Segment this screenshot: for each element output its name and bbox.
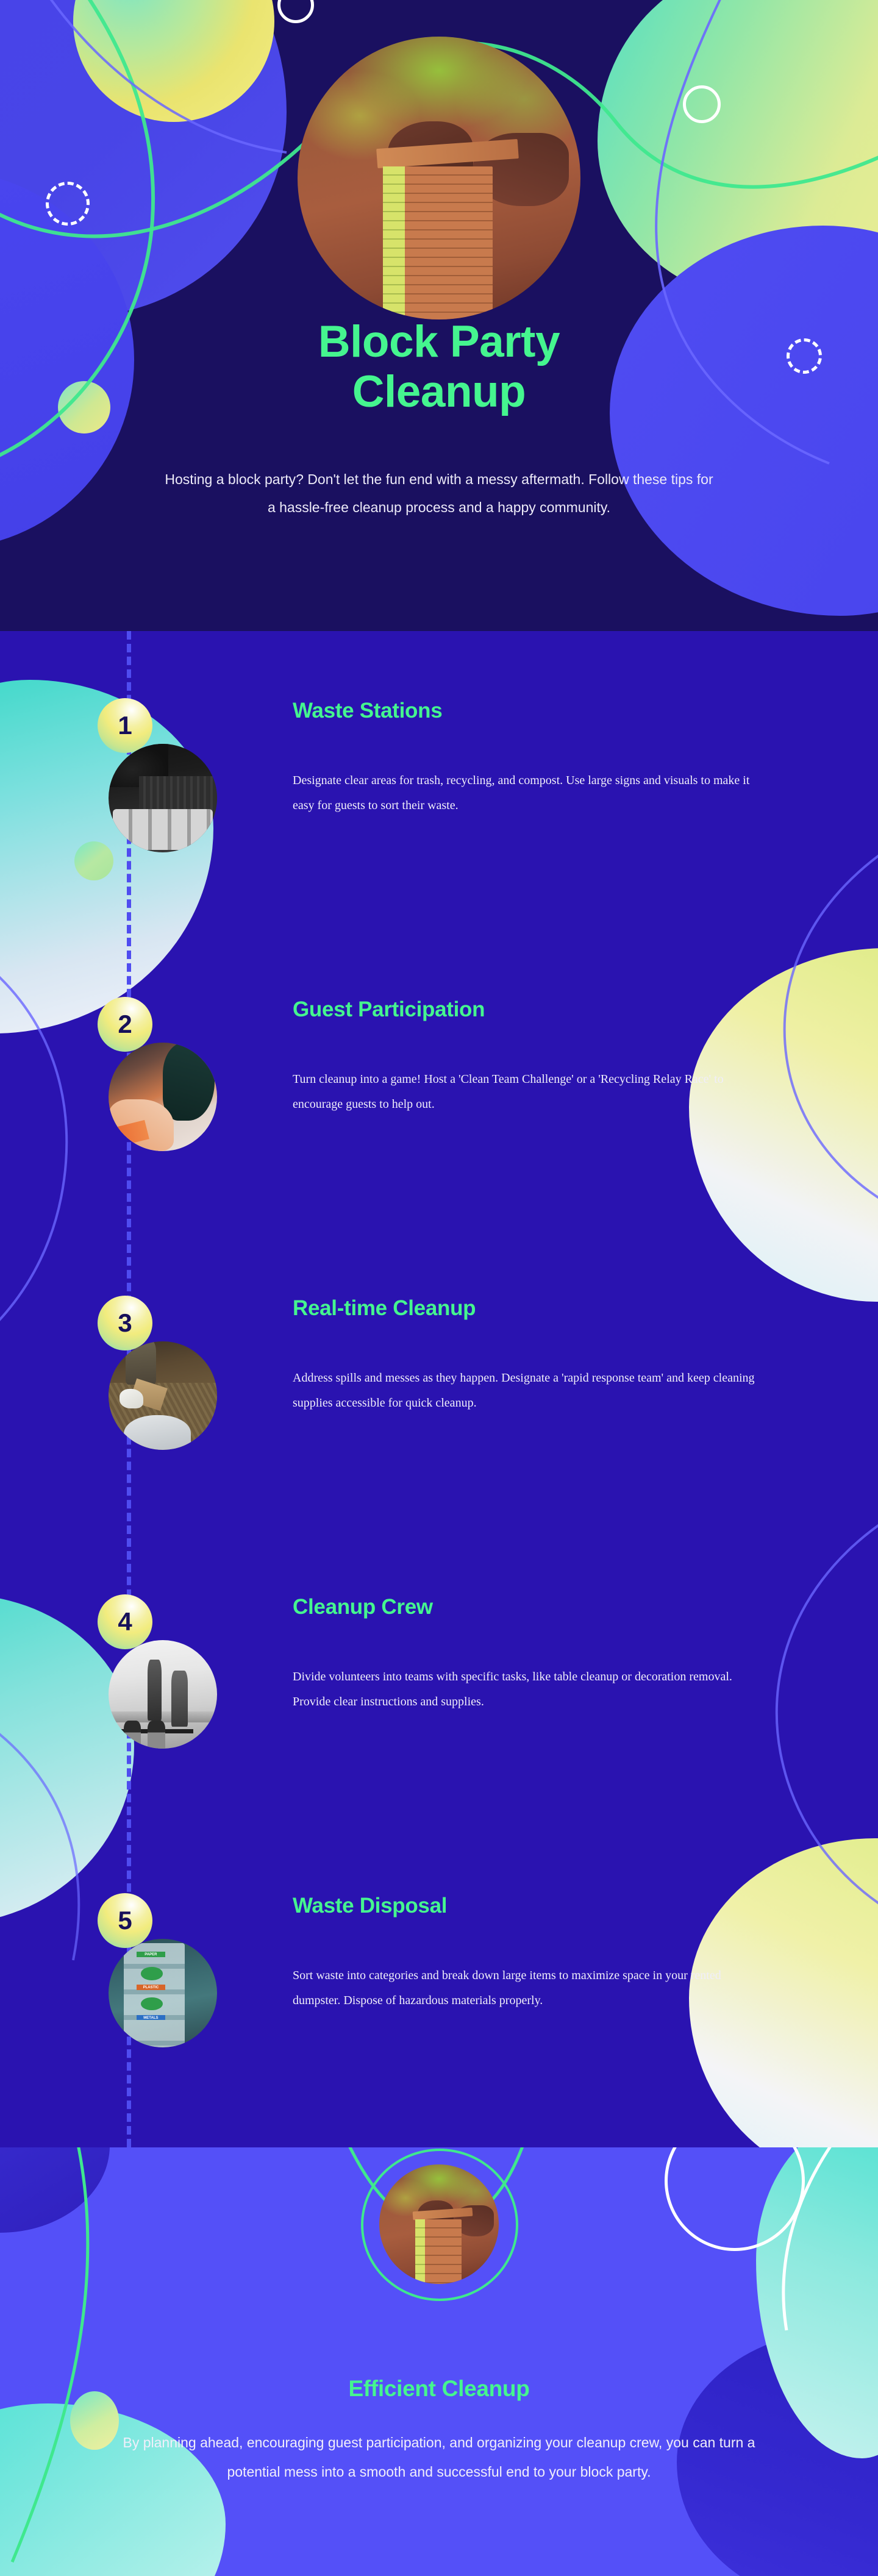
- decorative-blob-blue-left: [0, 0, 287, 317]
- page-title-line-1: Block Party: [318, 317, 560, 366]
- step-image-5: PAPER PLASTIC METALS: [109, 1939, 217, 2047]
- header-section: Block Party Cleanup Hosting a block part…: [0, 0, 878, 631]
- step-item-4: 4 Cleanup Crew Divide volunteers into te…: [0, 1567, 878, 1866]
- decorative-ring-outline-1: [277, 0, 314, 23]
- decorative-blob-footer-top-left: [0, 2147, 110, 2233]
- step-number-badge-4: 4: [98, 1594, 152, 1649]
- step-image-3: [109, 1341, 217, 1450]
- bin-label-plastic: PLASTIC: [137, 1985, 165, 1990]
- step-title-3: Real-time Cleanup: [293, 1296, 476, 1321]
- decorative-ring-dashed-left: [46, 182, 90, 226]
- step-image-4: [109, 1640, 217, 1749]
- step-title-4: Cleanup Crew: [293, 1595, 433, 1619]
- decorative-ring-footer-right: [665, 2147, 805, 2251]
- bin-label-metals: METALS: [137, 2015, 165, 2021]
- step-item-5: 5 PAPER PLASTIC METALS Waste Disposal So…: [0, 1866, 878, 2146]
- infographic-page: Block Party Cleanup Hosting a block part…: [0, 0, 878, 2576]
- step-item-2: 2 Guest Participation Turn cleanup into …: [0, 969, 878, 1268]
- step-image-2: [109, 1043, 217, 1151]
- step-item-3: 3 Real-time Cleanup Address spills and m…: [0, 1268, 878, 1567]
- hero-image: [298, 37, 580, 319]
- step-number-badge-3: 3: [98, 1296, 152, 1350]
- decorative-blob-blue-right-lower: [610, 226, 878, 616]
- decorative-sphere-gradient-top-left: [73, 0, 274, 122]
- step-number-badge-2: 2: [98, 997, 152, 1052]
- steps-section: 1 Waste Stations Designate clear areas f…: [0, 631, 878, 2147]
- page-title-line-2: Cleanup: [352, 367, 526, 416]
- footer-section: Efficient Cleanup By planning ahead, enc…: [0, 2147, 878, 2576]
- footer-title: Efficient Cleanup: [0, 2376, 878, 2402]
- step-image-1: [109, 744, 217, 852]
- footer-image: [379, 2164, 499, 2284]
- step-description-5: Sort waste into categories and break dow…: [293, 1963, 765, 2013]
- step-item-1: 1 Waste Stations Designate clear areas f…: [0, 671, 878, 969]
- step-description-3: Address spills and messes as they happen…: [293, 1366, 765, 1416]
- footer-description: By planning ahead, encouraging guest par…: [119, 2428, 759, 2487]
- step-description-1: Designate clear areas for trash, recycli…: [293, 768, 765, 818]
- decorative-blob-footer-right: [756, 2147, 878, 2458]
- step-number-badge-1: 1: [98, 698, 152, 753]
- step-title-5: Waste Disposal: [293, 1894, 447, 1918]
- decorative-ring-outline-2: [683, 85, 721, 123]
- decorative-blob-gradient-right: [598, 0, 878, 305]
- header-subtitle: Hosting a block party? Don't let the fun…: [165, 465, 713, 521]
- step-description-4: Divide volunteers into teams with specif…: [293, 1664, 765, 1714]
- hero-block-tower: [391, 166, 493, 319]
- step-description-2: Turn cleanup into a game! Host a 'Clean …: [293, 1067, 765, 1117]
- step-title-1: Waste Stations: [293, 699, 442, 723]
- step-title-2: Guest Participation: [293, 997, 485, 1022]
- bin-label-paper: PAPER: [137, 1952, 165, 1957]
- step-number-badge-5: 5: [98, 1893, 152, 1948]
- page-title: Block Party Cleanup: [0, 317, 878, 418]
